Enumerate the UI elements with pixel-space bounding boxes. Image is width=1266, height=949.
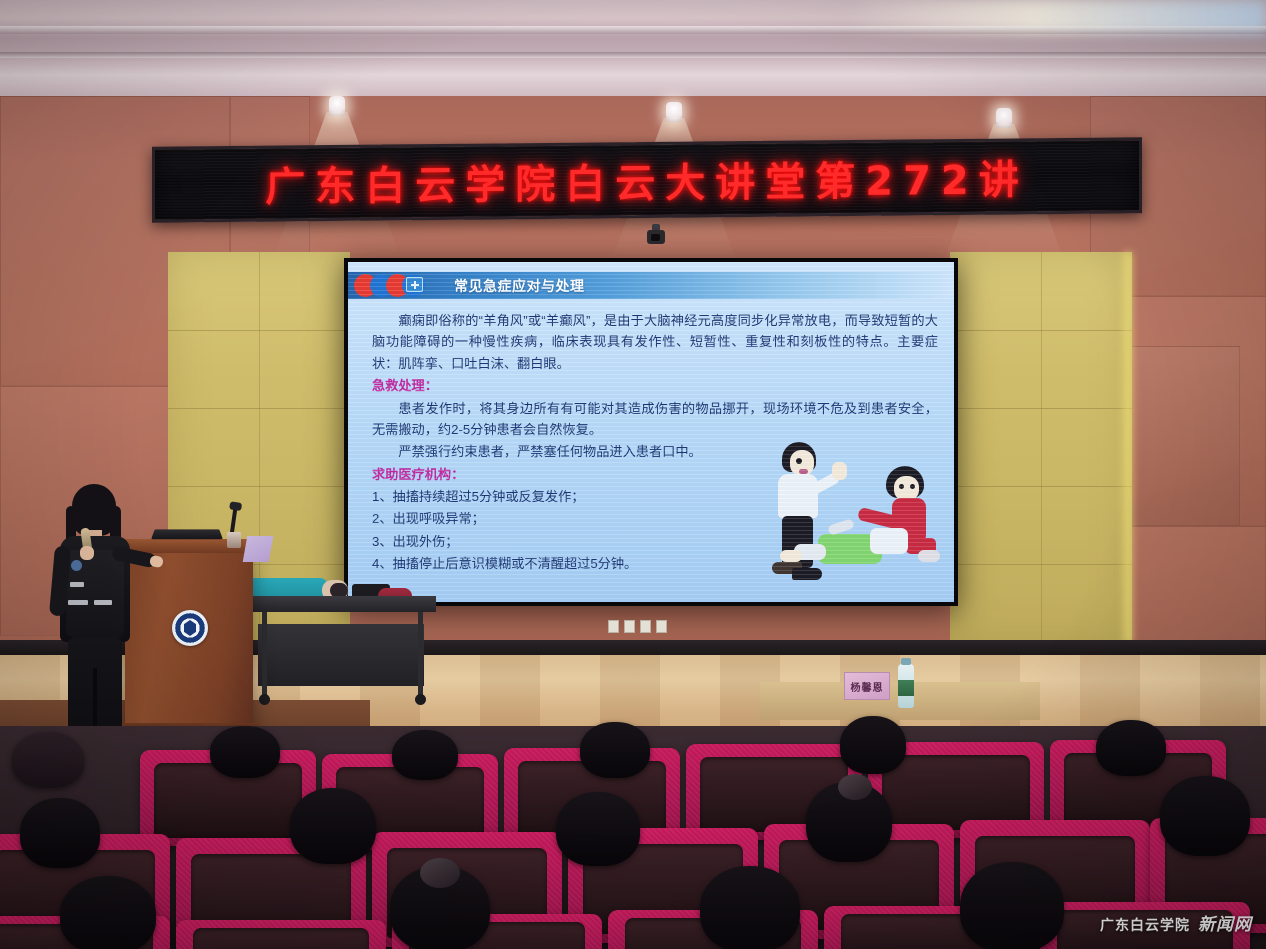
ceiling-trim-line [0, 26, 1266, 34]
audience-head [960, 862, 1064, 949]
presenter-hair [72, 484, 116, 536]
water-bottle [898, 664, 914, 708]
podium-cup [227, 532, 241, 548]
audience-head [1096, 720, 1166, 776]
slide-logo-circles [354, 272, 446, 299]
led-banner-bezel [1139, 140, 1142, 210]
ceiling [0, 0, 1266, 100]
first-aid-kit-icon [406, 277, 423, 292]
audience-head [60, 876, 156, 949]
audience-head [1160, 776, 1250, 856]
demo-table-skirt [258, 624, 424, 686]
audience-head [580, 722, 650, 778]
audience-head [700, 866, 800, 949]
seat [176, 920, 386, 949]
slide-paragraph: 患者发作时，将其身边所有有可能对其造成伤害的物品挪开，现场环境不危及到患者安全，… [372, 398, 938, 441]
demo-table-caster [259, 694, 270, 705]
ceiling-soffit [0, 58, 1266, 100]
presenter [50, 484, 142, 762]
watermark-site: 新闻网 [1198, 910, 1252, 935]
ptz-camera-icon [645, 224, 667, 248]
podium [125, 548, 253, 726]
led-banner-bezel [152, 150, 155, 220]
slide-paragraph: 癫痫即俗称的“羊角风”或“羊癫风”，是由于大脑神经元高度同步化异常放电，而导致短… [372, 310, 938, 374]
slide-title: 常见急症应对与处理 [454, 276, 585, 296]
university-emblem [172, 610, 208, 646]
gold-wall-panel-right [950, 252, 1132, 644]
presentation-slide: 常见急症应对与处理 癫痫即俗称的“羊角风”或“羊癫风”，是由于大脑神经元高度同步… [348, 262, 954, 602]
audience-head [840, 716, 906, 774]
gold-panel-edge-glow [1120, 252, 1132, 644]
slide-title-bar: 常见急症应对与处理 [348, 272, 954, 299]
presenter-hand-left [80, 546, 94, 560]
lecture-hall-photo: 广东白云学院白云大讲堂第272讲 常见急症应对与处理 [0, 0, 1266, 949]
audience-head [556, 792, 640, 866]
led-banner-text: 广东白云学院白云大讲堂第272讲 [265, 147, 1029, 212]
wall-access-door [1130, 346, 1240, 526]
watermark-organization: 广东白云学院 [1100, 915, 1190, 935]
demo-table-leg [262, 612, 267, 698]
audience-head [290, 788, 376, 864]
audience-head [392, 730, 458, 780]
demo-table-caster [415, 694, 426, 705]
audience-hair-bun [420, 858, 460, 888]
watermark: 广东白云学院 新闻网 [1100, 910, 1252, 935]
audience-seating-area [0, 726, 1266, 949]
slide-section-heading-1: 急救处理： [372, 375, 938, 396]
audience-hair-bun [838, 774, 872, 800]
podium-laptop [151, 529, 223, 539]
wall-power-outlets [608, 620, 667, 633]
led-banner: 广东白云学院白云大讲堂第272讲 [152, 137, 1142, 223]
audience-head [210, 726, 280, 778]
podium-card [243, 536, 274, 562]
name-card: 杨馨恩 [844, 672, 890, 700]
presenter-badge [71, 560, 82, 571]
audience-head [20, 798, 100, 868]
first-aid-cartoon-illustration [766, 438, 948, 590]
name-card-text: 杨馨恩 [851, 679, 884, 694]
demo-table-leg [418, 612, 423, 698]
audience-head [12, 732, 84, 788]
projection-screen: 常见急症应对与处理 癫痫即俗称的“羊角风”或“羊癫风”，是由于大脑神经元高度同步… [344, 258, 958, 606]
demo-table [250, 596, 436, 612]
